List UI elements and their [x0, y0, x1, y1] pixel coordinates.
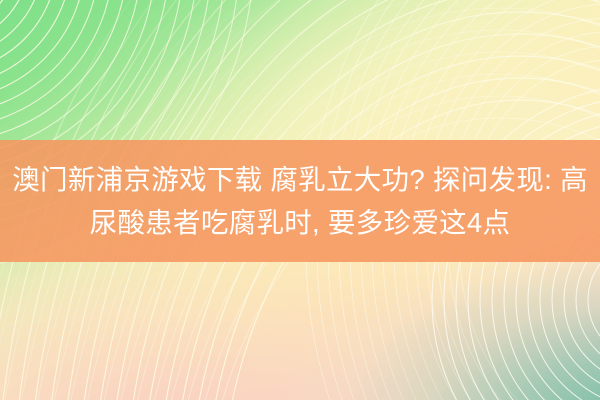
headline-band: 澳门新浦京游戏下载 腐乳立大功? 探问发现: 高 尿酸患者吃腐乳时, 要多珍爱这… [0, 140, 600, 262]
promo-banner: 澳门新浦京游戏下载 腐乳立大功? 探问发现: 高 尿酸患者吃腐乳时, 要多珍爱这… [0, 0, 600, 400]
headline-line-2: 尿酸患者吃腐乳时, 要多珍爱这4点 [90, 203, 511, 242]
headline-line-1: 澳门新浦京游戏下载 腐乳立大功? 探问发现: 高 [12, 160, 588, 199]
